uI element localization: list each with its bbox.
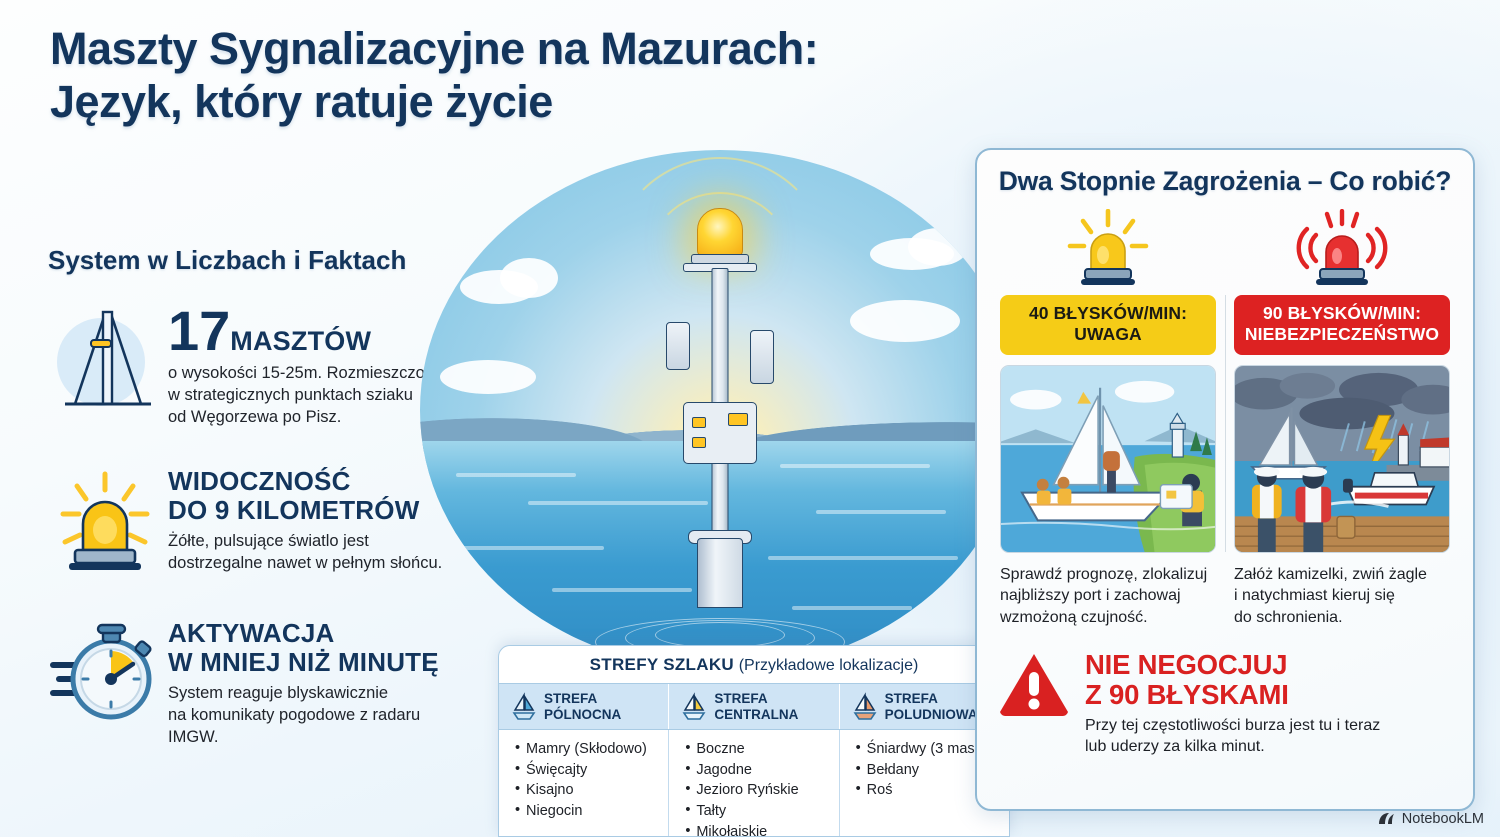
badge-line: 90 BŁYSKÓW/MIN: bbox=[1238, 303, 1446, 324]
level-desc-line: Sprawdź prognozę, zlokalizuj bbox=[1000, 564, 1216, 585]
level-desc-line: do schronienia. bbox=[1234, 607, 1450, 628]
neg-desc-line: lub uderzy za kilka minut. bbox=[1085, 736, 1380, 757]
zones-title: STREFY SZLAKU (Przykładowe lokalizacje) bbox=[499, 646, 1009, 683]
title-line-1: Maszty Sygnalizacyjne na Mazurach: bbox=[50, 22, 818, 75]
cloud bbox=[440, 360, 536, 394]
page-title: Maszty Sygnalizacyjne na Mazurach: Język… bbox=[50, 22, 818, 128]
do-not-negotiate-title: NIE NEGOCJUJ Z 90 BŁYSKAMI bbox=[1085, 650, 1380, 709]
zones-body: Mamry (Skłodowo) Święcajty Kisajno Niego… bbox=[499, 729, 1009, 837]
fact-number: 17 bbox=[168, 299, 230, 362]
list-item: Jezioro Ryńskie bbox=[685, 780, 832, 801]
zone-label-line: POLUDNIOWA bbox=[885, 707, 978, 723]
sailboat-blue-icon bbox=[511, 692, 537, 722]
fact-desc-line: System reaguje blyskawicznie bbox=[168, 682, 518, 704]
notebooklm-logo-icon bbox=[1377, 811, 1396, 827]
badge-90-flashes: 90 BŁYSKÓW/MIN: NIEBEZPIECZEŃSTWO bbox=[1234, 295, 1450, 355]
warning-triangle-icon bbox=[997, 650, 1071, 723]
list-item: Tałty bbox=[685, 801, 832, 822]
fact-desc-line: IMGW. bbox=[168, 726, 518, 748]
signal-mast-illustration bbox=[420, 150, 1020, 670]
cloud bbox=[500, 258, 558, 298]
mast-control-box-icon bbox=[683, 402, 757, 464]
zone-label-line: STREFA bbox=[714, 691, 798, 707]
badge-line: UWAGA bbox=[1004, 324, 1212, 345]
levels-row: 40 BŁYSKÓW/MIN: UWAGA bbox=[991, 203, 1459, 628]
list-item: Boczne bbox=[685, 739, 832, 760]
mast-structure bbox=[660, 202, 780, 628]
notebooklm-watermark: NotebookLM bbox=[1377, 811, 1484, 827]
level-desc-line: wzmożoną czujność. bbox=[1000, 607, 1216, 628]
list-item: Mamry (Skłodowo) bbox=[515, 739, 662, 760]
neg-title-line: NIE NEGOCJUJ bbox=[1085, 650, 1380, 680]
sailboat-yellow-icon bbox=[681, 692, 707, 722]
fact-description: System reaguje blyskawicznie na komunika… bbox=[168, 682, 518, 748]
zone-list-north: Mamry (Skłodowo) Święcajty Kisajno Niego… bbox=[499, 730, 668, 837]
level-danger-description: Załóż kamizelki, zwiń żagle i natychmias… bbox=[1234, 564, 1450, 628]
zones-title-rest: (Przykładowe lokalizacje) bbox=[739, 657, 919, 674]
mast-lamp-icon bbox=[697, 208, 743, 256]
list-item: Kisajno bbox=[515, 780, 662, 801]
zone-label-line: CENTRALNA bbox=[714, 707, 798, 723]
level-desc-line: Załóż kamizelki, zwiń żagle bbox=[1234, 564, 1450, 585]
fact-unit: MASZTÓW bbox=[230, 326, 371, 356]
list-item: Jagodne bbox=[685, 760, 832, 781]
stopwatch-icon bbox=[48, 615, 168, 733]
storm-lake-rescue-scene bbox=[1234, 365, 1450, 553]
zone-label-line: STREFA bbox=[885, 691, 978, 707]
do-not-negotiate-description: Przy tej częstotliwości burza jest tu i … bbox=[1085, 715, 1380, 757]
zones-header-row: STREFA PÓLNOCNA STREFA CENTRALNA STREF bbox=[499, 683, 1009, 729]
zone-label-line: STREFA bbox=[544, 691, 621, 707]
neg-title-line: Z 90 BŁYSKAMI bbox=[1085, 680, 1380, 710]
level-danger: 90 BŁYSKÓW/MIN: NIEBEZPIECZEŃSTWO bbox=[1225, 203, 1459, 628]
beacon-light-icon bbox=[48, 463, 168, 581]
zone-header-north: STREFA PÓLNOCNA bbox=[499, 684, 668, 729]
badge-line: NIEBEZPIECZEŃSTWO bbox=[1238, 324, 1446, 345]
level-desc-line: najbliższy port i zachowaj bbox=[1000, 585, 1216, 606]
zones-table: STREFY SZLAKU (Przykładowe lokalizacje) … bbox=[498, 645, 1010, 837]
yellow-beacon-icon bbox=[1000, 203, 1216, 295]
sailboat-orange-icon bbox=[852, 692, 878, 722]
list-item: Mikołajskie bbox=[685, 822, 832, 837]
list-item: Niegocin bbox=[515, 801, 662, 822]
list-item: Święcajty bbox=[515, 760, 662, 781]
cloud bbox=[908, 228, 968, 266]
zones-title-bold: STREFY SZLAKU bbox=[590, 655, 734, 674]
do-not-negotiate-block: NIE NEGOCJUJ Z 90 BŁYSKAMI Przy tej częs… bbox=[991, 650, 1459, 758]
badge-40-flashes: 40 BŁYSKÓW/MIN: UWAGA bbox=[1000, 295, 1216, 355]
mast-tower-icon bbox=[48, 300, 168, 418]
panel-title: Dwa Stopnie Zagrożenia – Co robić? bbox=[991, 166, 1459, 197]
notebooklm-label: NotebookLM bbox=[1402, 811, 1484, 827]
level-desc-line: i natychmiast kieruj się bbox=[1234, 585, 1450, 606]
title-line-2: Język, który ratuje życie bbox=[50, 75, 818, 128]
neg-desc-line: Przy tej częstotliwości burza jest tu i … bbox=[1085, 715, 1380, 736]
danger-levels-panel: Dwa Stopnie Zagrożenia – Co robić? bbox=[975, 148, 1475, 811]
fact-desc-line: na komunikaty pogodowe z radaru bbox=[168, 704, 518, 726]
calm-lake-sailboat-scene bbox=[1000, 365, 1216, 553]
cloud bbox=[850, 300, 960, 342]
zone-list-central: Boczne Jagodne Jezioro Ryńskie Tałty Mik… bbox=[668, 730, 838, 837]
red-beacon-icon bbox=[1234, 203, 1450, 295]
level-warning: 40 BŁYSKÓW/MIN: UWAGA bbox=[991, 203, 1225, 628]
zone-label-line: PÓLNOCNA bbox=[544, 707, 621, 723]
zone-header-central: STREFA CENTRALNA bbox=[668, 684, 838, 729]
badge-line: 40 BŁYSKÓW/MIN: bbox=[1004, 303, 1212, 324]
level-warning-description: Sprawdź prognozę, zlokalizuj najbliższy … bbox=[1000, 564, 1216, 628]
